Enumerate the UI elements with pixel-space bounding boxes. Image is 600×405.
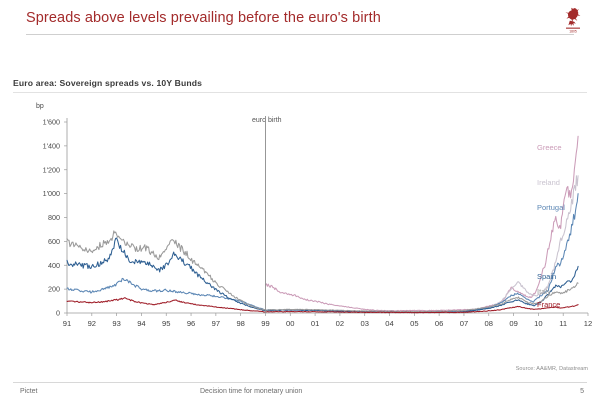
x-tick-label: 08 — [485, 319, 493, 328]
subtitle-divider — [13, 92, 587, 93]
series-line-portugal — [67, 194, 578, 313]
x-tick-label: 94 — [137, 319, 145, 328]
y-tick-label: 600 — [48, 237, 60, 246]
x-tick-label: 07 — [460, 319, 468, 328]
footer-deck-title: Decision time for monetary union — [200, 388, 302, 395]
y-tick-label: 800 — [48, 213, 60, 222]
x-tick-label: 96 — [187, 319, 195, 328]
y-axis-ticks: 02004006008001'0001'2001'4001'600 — [43, 118, 67, 318]
chart-subtitle: Euro area: Sovereign spreads vs. 10Y Bun… — [13, 78, 202, 88]
x-tick-label: 03 — [360, 319, 368, 328]
x-tick-label: 01 — [311, 319, 319, 328]
footer-divider — [13, 382, 587, 383]
series-label-spain: Spain — [537, 272, 556, 281]
pictet-griffin-logo-icon: 1805 — [560, 6, 586, 34]
series-label-ireland: Ireland — [537, 178, 560, 187]
x-tick-label: 93 — [112, 319, 120, 328]
x-tick-label: 06 — [435, 319, 443, 328]
y-tick-label: 200 — [48, 285, 60, 294]
spreads-line-chart: 02004006008001'0001'2001'4001'600 919293… — [0, 96, 600, 336]
series-label-portugal: Portugal — [537, 203, 565, 212]
x-tick-label: 95 — [162, 319, 170, 328]
series-label-italy: Italy — [537, 287, 551, 296]
series-label-greece: Greece — [537, 143, 562, 152]
y-tick-label: 1'600 — [43, 118, 60, 127]
series-line-greece — [265, 136, 578, 311]
series-line-ireland — [265, 176, 578, 313]
logo-year-text: 1805 — [569, 29, 577, 33]
footer-brand: Pictet — [20, 388, 38, 395]
x-tick-label: 12 — [584, 319, 592, 328]
x-tick-label: 98 — [236, 319, 244, 328]
footer-page-number: 5 — [580, 388, 584, 395]
chart-plot-area: 02004006008001'0001'2001'4001'600 919293… — [0, 96, 600, 336]
x-tick-label: 11 — [559, 319, 567, 328]
y-tick-label: 1'400 — [43, 141, 60, 150]
title-divider — [26, 34, 574, 35]
y-tick-label: 1'000 — [43, 189, 60, 198]
series-line-italy — [67, 231, 578, 312]
x-tick-label: 05 — [410, 319, 418, 328]
slide-root: Spreads above levels prevailing before t… — [0, 0, 600, 405]
y-tick-label: 1'200 — [43, 165, 60, 174]
chart-axes — [67, 118, 588, 313]
x-tick-label: 92 — [88, 319, 96, 328]
y-tick-label: 0 — [56, 309, 60, 318]
x-tick-label: 09 — [509, 319, 517, 328]
x-tick-label: 97 — [212, 319, 220, 328]
x-tick-label: 10 — [534, 319, 542, 328]
x-axis-ticks: 9192939495969798990001020304050607080910… — [63, 313, 592, 328]
x-tick-label: 00 — [286, 319, 294, 328]
page-title: Spreads above levels prevailing before t… — [26, 10, 381, 26]
x-tick-label: 04 — [385, 319, 393, 328]
source-note: Source: AA&MR, Datastream — [516, 366, 588, 372]
chart-series-group — [67, 136, 578, 312]
y-tick-label: 400 — [48, 261, 60, 270]
x-tick-label: 91 — [63, 319, 71, 328]
x-tick-label: 02 — [336, 319, 344, 328]
x-tick-label: 99 — [261, 319, 269, 328]
series-label-france: France — [537, 300, 560, 309]
